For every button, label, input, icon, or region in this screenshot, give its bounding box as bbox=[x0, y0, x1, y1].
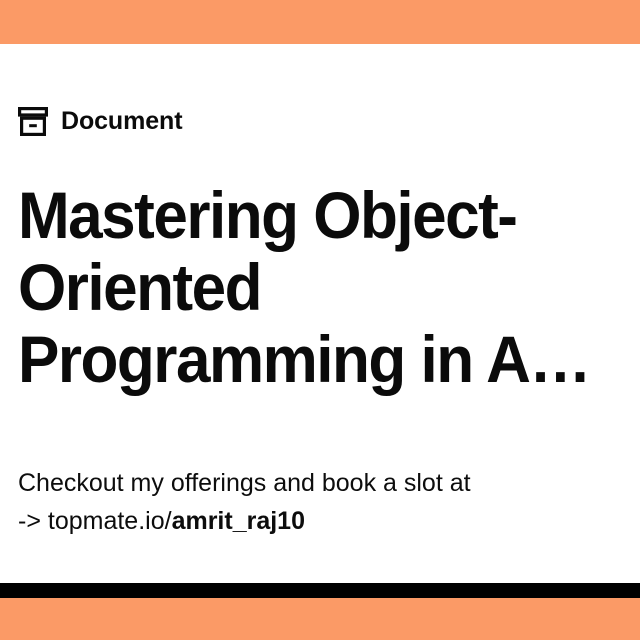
cta-handle: amrit_raj10 bbox=[172, 507, 305, 535]
page-title: Mastering Object- Oriented Programming i… bbox=[18, 179, 597, 395]
body-copy: Checkout my offerings and book a slot at… bbox=[18, 464, 618, 540]
poster-canvas: Document Mastering Object- Oriented Prog… bbox=[0, 0, 640, 640]
archive-icon bbox=[18, 107, 48, 136]
kicker-row: Document bbox=[18, 107, 182, 136]
bottom-divider-rule bbox=[0, 583, 640, 598]
title-line-1: Mastering Object- bbox=[18, 179, 597, 251]
document-type-label: Document bbox=[61, 109, 182, 134]
title-line-3: Programming in A… bbox=[18, 323, 597, 395]
title-line-2: Oriented bbox=[18, 251, 597, 323]
cta-line: -> topmate.io/amrit_raj10 bbox=[18, 502, 618, 540]
cta-url-prefix: -> topmate.io/ bbox=[18, 507, 172, 535]
body-line-1: Checkout my offerings and book a slot at bbox=[18, 464, 618, 502]
content-card: Document Mastering Object- Oriented Prog… bbox=[0, 44, 640, 583]
